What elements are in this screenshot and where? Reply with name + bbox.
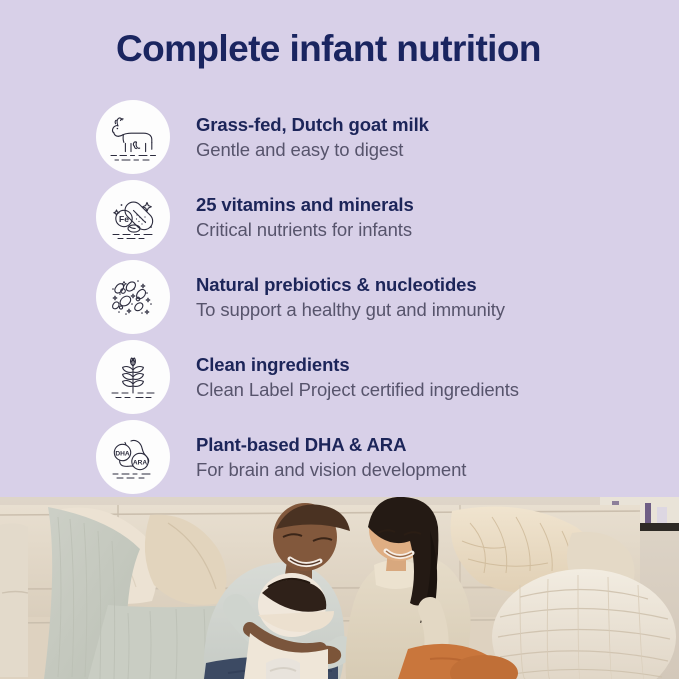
feature-subtitle: To support a healthy gut and immunity bbox=[196, 298, 505, 321]
feature-item-clean-ingredients: Clean ingredients Clean Label Project ce… bbox=[96, 337, 656, 417]
dha-label: DHA bbox=[115, 450, 130, 457]
wheat-stalk-icon bbox=[96, 340, 170, 414]
feature-text-goat-milk: Grass-fed, Dutch goat milk Gentle and ea… bbox=[196, 113, 429, 161]
ara-label: ARA bbox=[133, 459, 148, 466]
feature-text-prebiotics: Natural prebiotics & nucleotides To supp… bbox=[196, 273, 505, 321]
feature-item-prebiotics: Natural prebiotics & nucleotides To supp… bbox=[96, 257, 656, 337]
feature-title: 25 vitamins and minerals bbox=[196, 193, 414, 216]
feature-subtitle: For brain and vision development bbox=[196, 458, 466, 481]
feature-item-goat-milk: Grass-fed, Dutch goat milk Gentle and ea… bbox=[96, 97, 656, 177]
feature-subtitle: Critical nutrients for infants bbox=[196, 218, 414, 241]
feature-item-dha-ara: DHA ARA Plant-based DHA & ARA For brain … bbox=[96, 417, 656, 497]
feature-subtitle: Gentle and easy to digest bbox=[196, 138, 429, 161]
iron-symbol-label: Fe bbox=[119, 214, 129, 224]
feature-text-dha-ara: Plant-based DHA & ARA For brain and visi… bbox=[196, 433, 466, 481]
product-feature-panel: Complete infant nutrition bbox=[0, 0, 679, 679]
page-title: Complete infant nutrition bbox=[116, 28, 541, 70]
probiotic-bacteria-icon bbox=[96, 260, 170, 334]
photo-illustration bbox=[0, 497, 679, 679]
feature-title: Plant-based DHA & ARA bbox=[196, 433, 466, 456]
dha-ara-brain-icon: DHA ARA bbox=[96, 420, 170, 494]
goat-icon bbox=[96, 100, 170, 174]
feature-text-clean-ingredients: Clean ingredients Clean Label Project ce… bbox=[196, 353, 519, 401]
feature-title: Grass-fed, Dutch goat milk bbox=[196, 113, 429, 136]
vitamin-capsule-iron-icon: Fe bbox=[96, 180, 170, 254]
family-on-sofa-photo bbox=[0, 497, 679, 679]
feature-text-vitamins: 25 vitamins and minerals Critical nutrie… bbox=[196, 193, 414, 241]
feature-item-vitamins: Fe 25 vitamins and minerals Critical nut bbox=[96, 177, 656, 257]
feature-title: Clean ingredients bbox=[196, 353, 519, 376]
feature-list: Grass-fed, Dutch goat milk Gentle and ea… bbox=[96, 97, 656, 497]
feature-subtitle: Clean Label Project certified ingredient… bbox=[196, 378, 519, 401]
feature-title: Natural prebiotics & nucleotides bbox=[196, 273, 505, 296]
